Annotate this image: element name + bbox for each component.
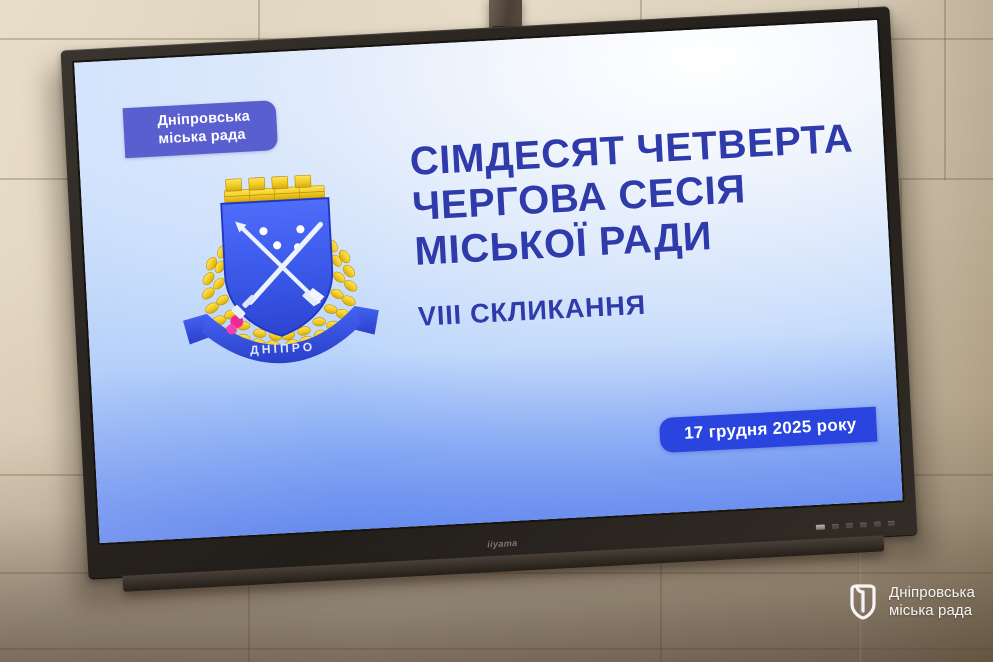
input-button[interactable]	[874, 521, 881, 526]
watermark-line-2: міська рада	[889, 602, 975, 620]
watermark-line-1: Дніпровська	[889, 584, 975, 602]
plus-button[interactable]	[860, 522, 867, 527]
dnipro-coat-of-arms-emblem: ДНІПРО	[162, 154, 395, 387]
slide-headline-block: СІМДЕСЯТ ЧЕТВЕРТА ЧЕРГОВА СЕСІЯ МІСЬКОЇ …	[409, 113, 903, 332]
shield-logo-icon	[848, 584, 878, 620]
wall-mounted-display: iiyama Дніпровська міська рада	[60, 6, 917, 579]
display-screen: Дніпровська міська рада	[72, 18, 905, 545]
page-title: СІМДЕСЯТ ЧЕТВЕРТА ЧЕРГОВА СЕСІЯ МІСЬКОЇ …	[409, 113, 903, 275]
session-date-badge: 17 грудня 2025 року	[659, 407, 877, 453]
display-brand-logo: iiyama	[487, 538, 518, 550]
power-led-indicator	[816, 524, 825, 529]
photo-scene: iiyama Дніпровська міська рада	[0, 0, 993, 662]
photo-watermark: Дніпровська міська рада	[848, 584, 975, 620]
minus-button[interactable]	[846, 523, 853, 528]
org-name-badge: Дніпровська міська рада	[123, 100, 278, 158]
convocation-subtitle: VIII СКЛИКАННЯ	[417, 275, 902, 333]
display-bezel: iiyama Дніпровська міська рада	[60, 6, 917, 579]
power-button[interactable]	[888, 521, 895, 526]
presentation-slide: Дніпровська міська рада	[74, 20, 902, 543]
display-control-buttons[interactable]	[816, 521, 895, 530]
watermark-text: Дніпровська міська рада	[889, 584, 975, 620]
menu-button[interactable]	[832, 524, 839, 529]
